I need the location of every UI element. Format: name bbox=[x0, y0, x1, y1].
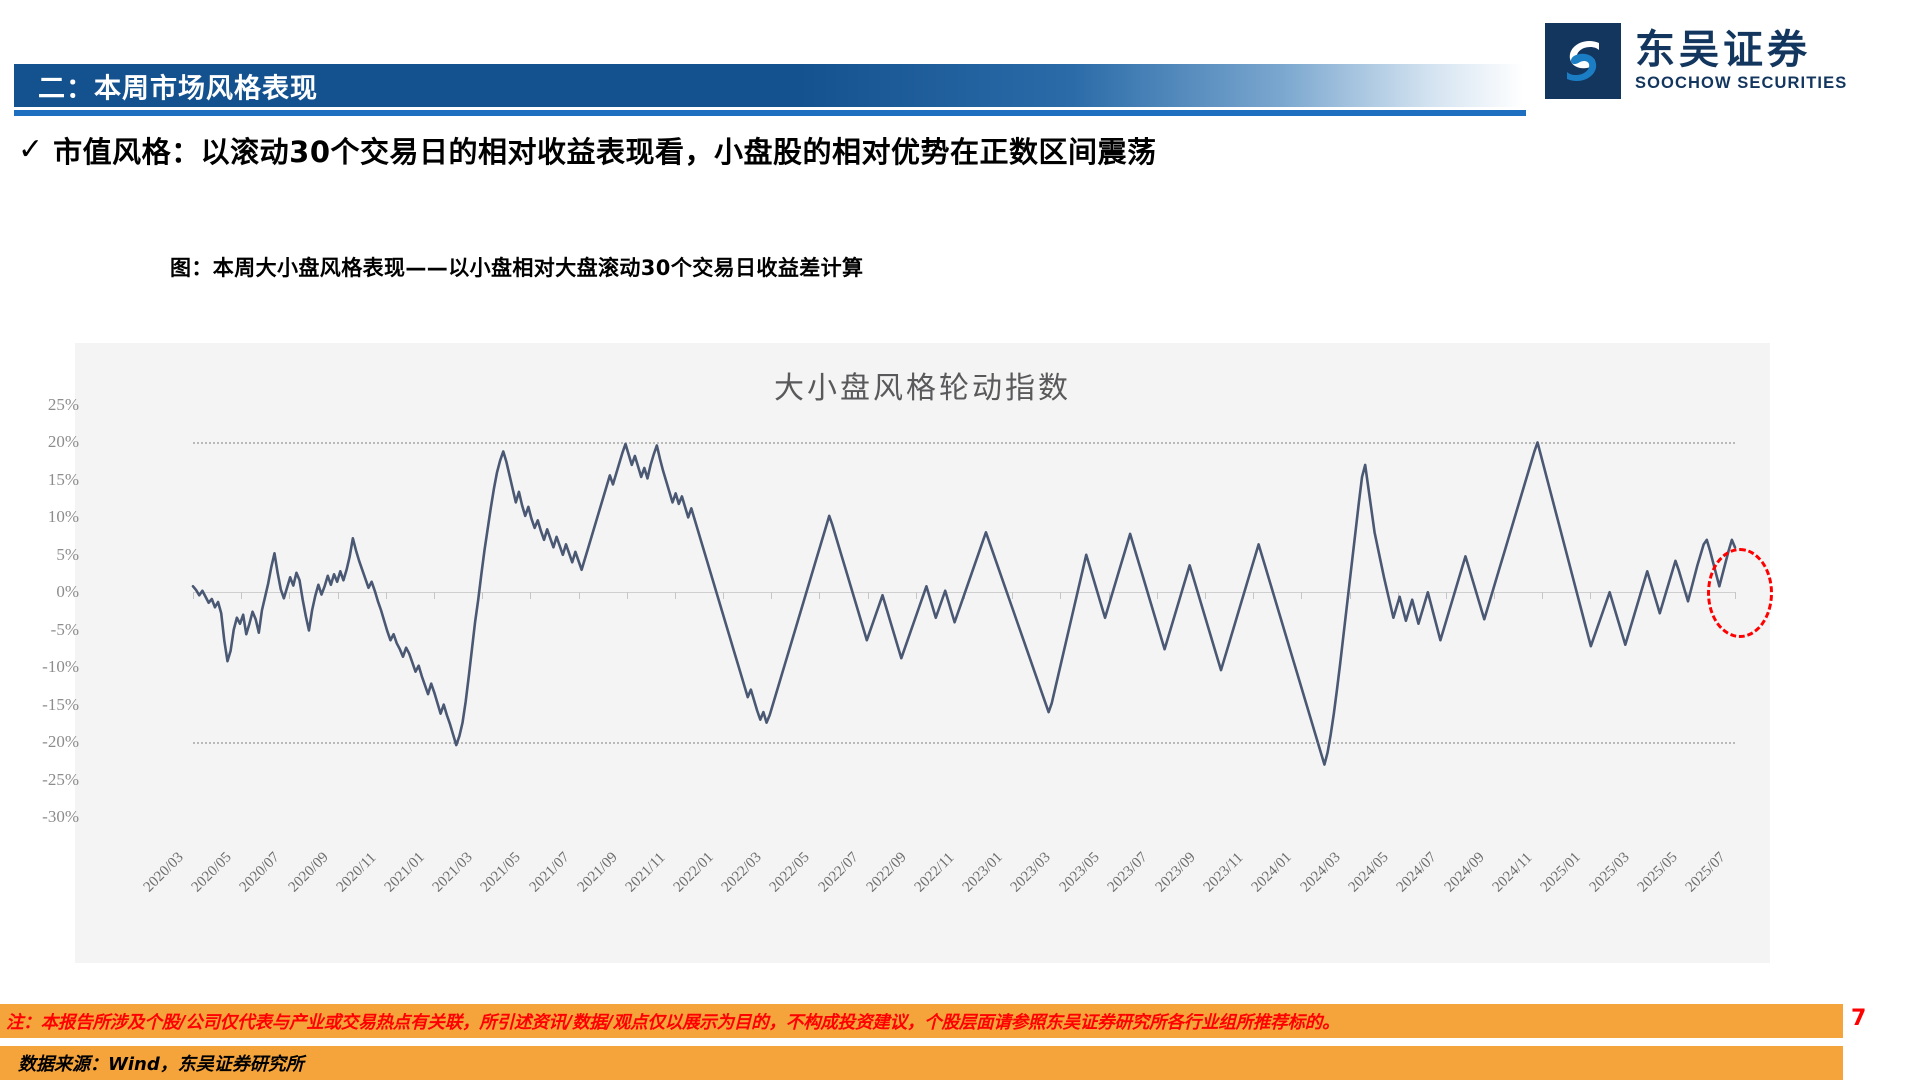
soochow-logo-icon bbox=[1545, 23, 1621, 99]
y-axis-tick-label: 10% bbox=[0, 507, 79, 527]
x-axis-tick-label: 2020/03 bbox=[141, 849, 188, 896]
x-axis-tick-label: 2021/11 bbox=[623, 850, 669, 896]
x-axis-tick-label: 2023/07 bbox=[1104, 849, 1151, 896]
company-logo: 东吴证券 SOOCHOW SECURITIES bbox=[1545, 22, 1885, 100]
logo-chinese-name: 东吴证券 bbox=[1635, 29, 1847, 71]
x-axis-tick-label: 2024/05 bbox=[1345, 849, 1392, 896]
x-axis-tick-label: 2022/09 bbox=[863, 849, 910, 896]
x-axis-tick-label: 2022/03 bbox=[719, 849, 766, 896]
x-axis-tick-label: 2025/03 bbox=[1586, 849, 1633, 896]
source-text: 数据来源：Wind，东吴证券研究所 bbox=[0, 1050, 304, 1076]
disclaimer-band: 注：本报告所涉及个股/公司仅代表与产业或交易热点有关联，所引述资讯/数据/观点仅… bbox=[0, 1004, 1843, 1038]
x-axis-tick-label: 2024/03 bbox=[1297, 849, 1344, 896]
x-axis-tick-label: 2021/09 bbox=[574, 849, 621, 896]
x-axis-tick-label: 2023/09 bbox=[1153, 849, 1200, 896]
x-axis-tick-label: 2020/11 bbox=[333, 850, 379, 896]
red-dashed-ellipse-annotation bbox=[1707, 548, 1773, 638]
x-axis-tick-label: 2022/01 bbox=[671, 849, 718, 896]
section-title-bar: 二：本周市场风格表现 bbox=[14, 64, 1524, 107]
page-number: 7 bbox=[1851, 1006, 1866, 1031]
y-axis-tick-label: -10% bbox=[0, 657, 79, 677]
x-axis-tick-label: 2024/07 bbox=[1394, 849, 1441, 896]
x-axis-tick-label: 2025/05 bbox=[1634, 849, 1681, 896]
x-axis-tick-label: 2024/01 bbox=[1249, 849, 1296, 896]
x-axis-tick-label: 2025/01 bbox=[1538, 849, 1585, 896]
y-axis-tick-label: 25% bbox=[0, 395, 79, 415]
y-axis-tick-label: -15% bbox=[0, 695, 79, 715]
x-axis-tick-label: 2021/03 bbox=[430, 849, 477, 896]
x-axis-tick-label: 2024/11 bbox=[1490, 850, 1536, 896]
y-axis-tick-label: 20% bbox=[0, 432, 79, 452]
logo-english-name: SOOCHOW SECURITIES bbox=[1635, 74, 1847, 93]
x-axis-tick-label: 2020/05 bbox=[189, 849, 236, 896]
x-axis-tick-label: 2022/11 bbox=[912, 850, 958, 896]
source-band: 数据来源：Wind，东吴证券研究所 bbox=[0, 1046, 1843, 1080]
y-axis-tick-label: -5% bbox=[0, 620, 79, 640]
section-title: 二：本周市场风格表现 bbox=[38, 66, 318, 105]
x-axis-tick-label: 2022/05 bbox=[767, 849, 814, 896]
bullet-heading: ✓ 市值风格：以滚动30个交易日的相对收益表现看，小盘股的相对优势在正数区间震荡 bbox=[18, 128, 1718, 172]
disclaimer-text: 注：本报告所涉及个股/公司仅代表与产业或交易热点有关联，所引述资讯/数据/观点仅… bbox=[0, 1009, 1339, 1034]
x-axis-tick-label: 2025/07 bbox=[1683, 849, 1730, 896]
figure-caption: 图：本周大小盘风格表现——以小盘相对大盘滚动30个交易日收益差计算 bbox=[170, 252, 863, 282]
x-axis-tick-label: 2023/01 bbox=[960, 849, 1007, 896]
y-axis-tick-label: 5% bbox=[0, 545, 79, 565]
x-axis-tick-label: 2023/05 bbox=[1056, 849, 1103, 896]
section-title-underline bbox=[14, 110, 1526, 116]
chart-panel: 大小盘风格轮动指数 25%20%15%10%5%0%-5%-10%-15%-20… bbox=[75, 343, 1770, 963]
line-series bbox=[193, 405, 1735, 817]
y-axis-tick-label: -25% bbox=[0, 770, 79, 790]
x-axis-tick-label: 2021/01 bbox=[382, 849, 429, 896]
x-axis-tick-label: 2021/05 bbox=[478, 849, 525, 896]
y-axis-tick-label: 0% bbox=[0, 582, 79, 602]
y-axis-tick-label: 15% bbox=[0, 470, 79, 490]
x-axis-tick-label: 2023/11 bbox=[1201, 850, 1247, 896]
x-axis-tick-label: 2021/07 bbox=[526, 849, 573, 896]
x-axis-tick-label: 2020/07 bbox=[237, 849, 284, 896]
x-axis-tick-label: 2020/09 bbox=[285, 849, 332, 896]
x-axis-tick-label: 2023/03 bbox=[1008, 849, 1055, 896]
x-axis-tick-label: 2022/07 bbox=[815, 849, 862, 896]
y-axis-tick-label: -30% bbox=[0, 807, 79, 827]
plot-area: 25%20%15%10%5%0%-5%-10%-15%-20%-25%-30% bbox=[193, 405, 1735, 817]
x-axis-tick-label: 2024/09 bbox=[1442, 849, 1489, 896]
checkmark-icon: ✓ bbox=[18, 135, 43, 165]
chart-title: 大小盘风格轮动指数 bbox=[75, 363, 1770, 407]
y-axis-tick-label: -20% bbox=[0, 732, 79, 752]
bullet-heading-text: 市值风格：以滚动30个交易日的相对收益表现看，小盘股的相对优势在正数区间震荡 bbox=[53, 129, 1156, 171]
